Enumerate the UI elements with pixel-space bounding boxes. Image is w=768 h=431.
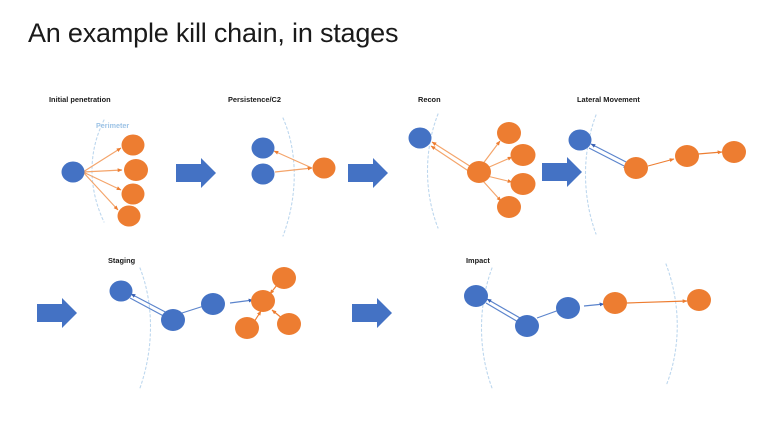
kill-chain-diagram: Initial penetration Perimeter Persistenc… (0, 0, 768, 431)
node-blue[interactable] (409, 128, 432, 149)
node-orange[interactable] (122, 184, 145, 205)
stage-connector-arrow[interactable] (348, 158, 388, 188)
node-orange[interactable] (235, 317, 259, 339)
perimeter-arc (283, 118, 294, 236)
node-blue[interactable] (161, 309, 185, 331)
node-orange[interactable] (272, 267, 296, 289)
stage-initial-penetration[interactable]: Initial penetration Perimeter (49, 95, 148, 227)
node-orange[interactable] (467, 161, 491, 183)
slide-canvas: An example kill chain, in stages Initial… (0, 0, 768, 431)
stage-recon[interactable]: Recon (409, 95, 536, 228)
node-orange[interactable] (122, 135, 145, 156)
node-blue[interactable] (201, 293, 225, 315)
node-blue[interactable] (252, 138, 275, 159)
stage-connector-arrow[interactable] (37, 298, 77, 328)
stage-connector-arrow[interactable] (542, 157, 582, 187)
node-orange[interactable] (251, 290, 275, 312)
stage-label-staging: Staging (108, 256, 136, 265)
node-orange[interactable] (675, 145, 699, 167)
node-orange[interactable] (497, 196, 521, 218)
node-orange[interactable] (313, 158, 336, 179)
node-blue[interactable] (464, 285, 488, 307)
node-blue[interactable] (62, 162, 85, 183)
stage-impact[interactable]: Impact (464, 256, 711, 388)
stage-label-recon: Recon (418, 95, 441, 104)
node-orange[interactable] (687, 289, 711, 311)
node-blue[interactable] (252, 164, 275, 185)
perimeter-label: Perimeter (96, 121, 129, 130)
node-orange[interactable] (497, 122, 521, 144)
node-orange[interactable] (277, 313, 301, 335)
edge-group (589, 144, 722, 168)
perimeter-arc (482, 268, 493, 388)
node-blue[interactable] (515, 315, 539, 337)
stage-persistence-c2[interactable]: Persistence/C2 (228, 95, 336, 236)
node-orange[interactable] (624, 157, 648, 179)
node-blue[interactable] (556, 297, 580, 319)
node-orange[interactable] (511, 144, 536, 166)
edge-group (274, 151, 312, 172)
stage-lateral-movement[interactable]: Lateral Movement (569, 95, 747, 234)
node-blue[interactable] (569, 130, 592, 151)
stage-staging[interactable]: Staging (108, 256, 301, 388)
stage-label-lateral-movement: Lateral Movement (577, 95, 640, 104)
node-orange[interactable] (118, 206, 141, 227)
node-orange[interactable] (124, 159, 148, 181)
node-orange[interactable] (603, 292, 627, 314)
stage-label-persistence-c2: Persistence/C2 (228, 95, 281, 104)
perimeter-arc (666, 264, 677, 386)
perimeter-arc (140, 268, 151, 388)
node-orange[interactable] (722, 141, 746, 163)
stage-connector-arrow[interactable] (176, 158, 216, 188)
node-orange[interactable] (511, 173, 536, 195)
edge-group (83, 148, 122, 210)
stage-connector-arrow[interactable] (352, 298, 392, 328)
stage-label-initial-penetration: Initial penetration (49, 95, 111, 104)
node-blue[interactable] (110, 281, 133, 302)
stage-label-impact: Impact (466, 256, 490, 265)
perimeter-arc (428, 114, 439, 228)
